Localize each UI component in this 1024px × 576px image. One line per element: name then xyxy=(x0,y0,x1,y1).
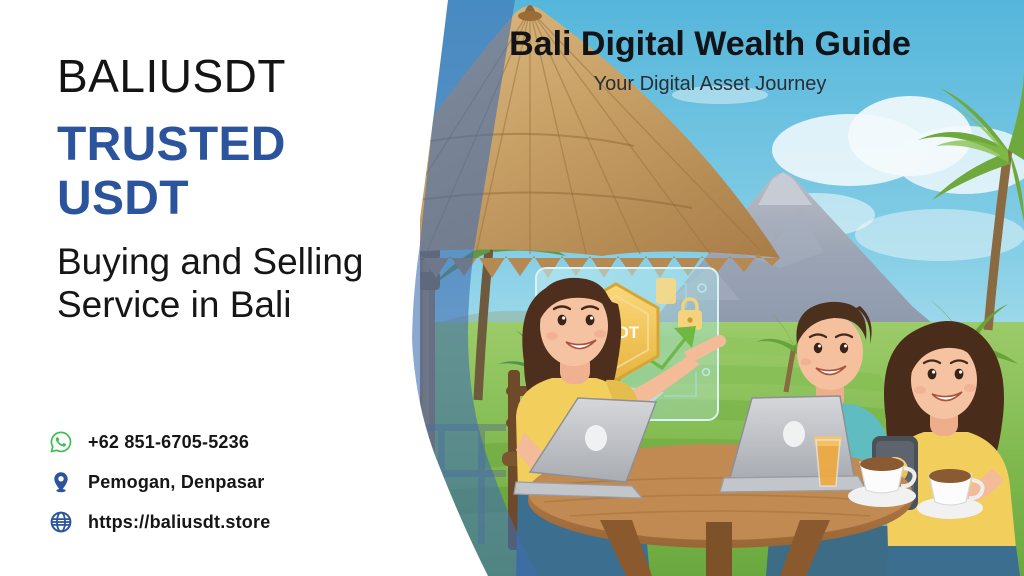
whatsapp-number: +62 851-6705-5236 xyxy=(88,432,249,453)
subheadline: Buying and Selling Service in Bali xyxy=(57,240,430,327)
website-url: https://baliusdt.store xyxy=(88,512,270,533)
subheadline-line-1: Buying and Selling xyxy=(57,240,430,284)
subheadline-line-2: Service in Bali xyxy=(57,283,430,327)
bali-illustration: USDT xyxy=(420,0,1024,576)
brand-name: BALIUSDT xyxy=(57,52,430,100)
artwork-title: Bali Digital Wealth Guide xyxy=(509,25,911,63)
whatsapp-icon xyxy=(48,429,74,455)
headline: TRUSTED USDT xyxy=(57,118,430,226)
contact-row-website[interactable]: https://baliusdt.store xyxy=(48,504,428,540)
headline-line-2: USDT xyxy=(57,172,430,226)
marketing-banner: USDT xyxy=(0,0,1024,576)
headline-line-1: TRUSTED xyxy=(57,118,430,172)
location-text: Pemogan, Denpasar xyxy=(88,472,264,493)
contact-row-location[interactable]: Pemogan, Denpasar xyxy=(48,464,428,500)
location-pin-icon xyxy=(48,469,74,495)
globe-icon xyxy=(48,509,74,535)
contact-list: +62 851-6705-5236 Pemogan, Denpasar xyxy=(48,424,428,544)
contact-row-whatsapp[interactable]: +62 851-6705-5236 xyxy=(48,424,428,460)
artwork-subtitle: Your Digital Asset Journey xyxy=(594,73,827,95)
